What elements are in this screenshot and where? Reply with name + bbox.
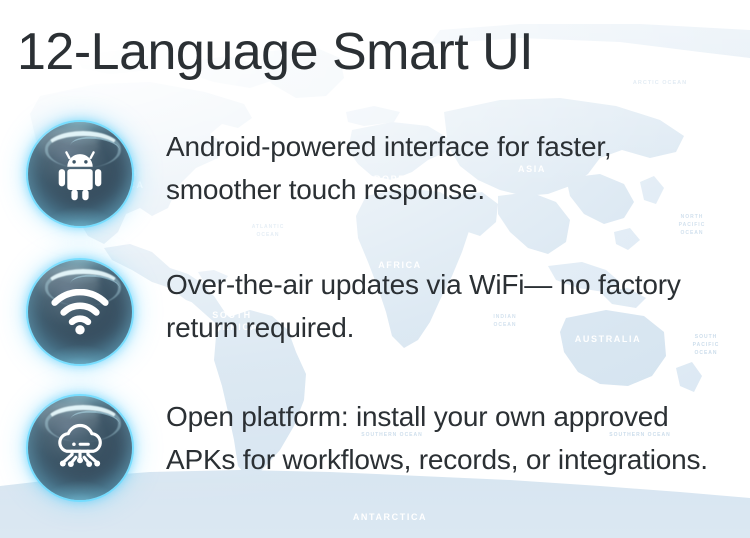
cloud-network-glyph: [28, 396, 132, 500]
feature-item: Android-powered interface for faster, sm…: [28, 118, 734, 226]
page-title: 12-Language Smart UI: [17, 25, 533, 80]
feature-text: Open platform: install your own approved…: [166, 392, 734, 481]
feature-text: Android-powered interface for faster, sm…: [166, 118, 734, 211]
feature-text: Over-the-air updates via WiFi— no factor…: [166, 256, 734, 349]
wifi-signal-icon: [28, 260, 132, 364]
feature-graphic: NORTH AMERICA SOUTH AMERICA EUROPE AFRIC…: [0, 0, 750, 538]
wifi-signal-glyph: [28, 260, 132, 364]
feature-item: Open platform: install your own approved…: [28, 392, 734, 500]
android-robot-glyph: [28, 122, 132, 226]
feature-item: Over-the-air updates via WiFi— no factor…: [28, 256, 734, 364]
android-robot-icon: [28, 122, 132, 226]
cloud-network-icon: [28, 396, 132, 500]
